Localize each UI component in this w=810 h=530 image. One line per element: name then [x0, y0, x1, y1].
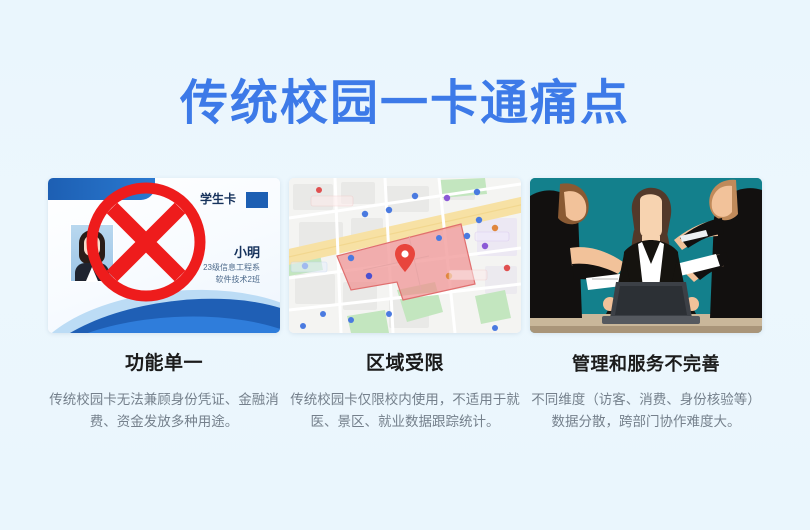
- card-heading: 管理和服务不完善: [530, 353, 762, 375]
- card-heading: 区域受限: [289, 353, 521, 375]
- desk-edge: [530, 326, 762, 333]
- student-id-card-illustration: 学生卡 小明 23级信息工程系 软件技术2班: [48, 178, 280, 333]
- id-card-student-department: 23级信息工程系: [203, 262, 260, 273]
- photo-face: [84, 235, 100, 256]
- pain-point-card-row: 学生卡 小明 23级信息工程系 软件技术2班: [48, 178, 762, 433]
- card-thumbnail-student-id[interactable]: 学生卡 小明 23级信息工程系 软件技术2班: [48, 178, 280, 333]
- card-thumbnail-office[interactable]: [530, 178, 762, 333]
- laptop: [602, 282, 700, 324]
- id-card-student-name: 小明: [234, 242, 260, 261]
- id-card-title-text: 学生卡: [200, 190, 236, 207]
- office-illustration: [530, 178, 762, 333]
- card-body-text: 不同维度（访客、消费、身份核验等）数据分散，跨部门协作难度大。: [530, 389, 762, 433]
- id-card-logo-square: [246, 192, 268, 208]
- id-card-top-bar: [48, 178, 155, 200]
- page-title: 传统校园一卡通痛点: [0, 78, 810, 130]
- pain-point-card-area-limited[interactable]: 区域受限 传统校园卡仅限校内使用，不适用于就医、景区、就业数据跟踪统计。: [289, 178, 521, 433]
- card-body-text: 传统校园卡无法兼顾身份凭证、金融消费、资金发放多种用途。: [48, 389, 280, 433]
- card-heading: 功能单一: [48, 353, 280, 375]
- card-body-text: 传统校园卡仅限校内使用，不适用于就医、景区、就业数据跟踪统计。: [289, 389, 521, 433]
- pain-point-card-management[interactable]: 管理和服务不完善 不同维度（访客、消费、身份核验等）数据分散，跨部门协作难度大。: [530, 178, 762, 433]
- id-card-student-class: 软件技术2班: [216, 274, 260, 285]
- id-card-photo: [70, 224, 114, 282]
- slide-canvas: 传统校园一卡通痛点 学生卡 小明 23级信息工程系 软件技术: [0, 0, 810, 530]
- pain-point-card-single-function[interactable]: 学生卡 小明 23级信息工程系 软件技术2班: [48, 178, 280, 433]
- map-illustration: [289, 178, 521, 333]
- card-thumbnail-map[interactable]: [289, 178, 521, 333]
